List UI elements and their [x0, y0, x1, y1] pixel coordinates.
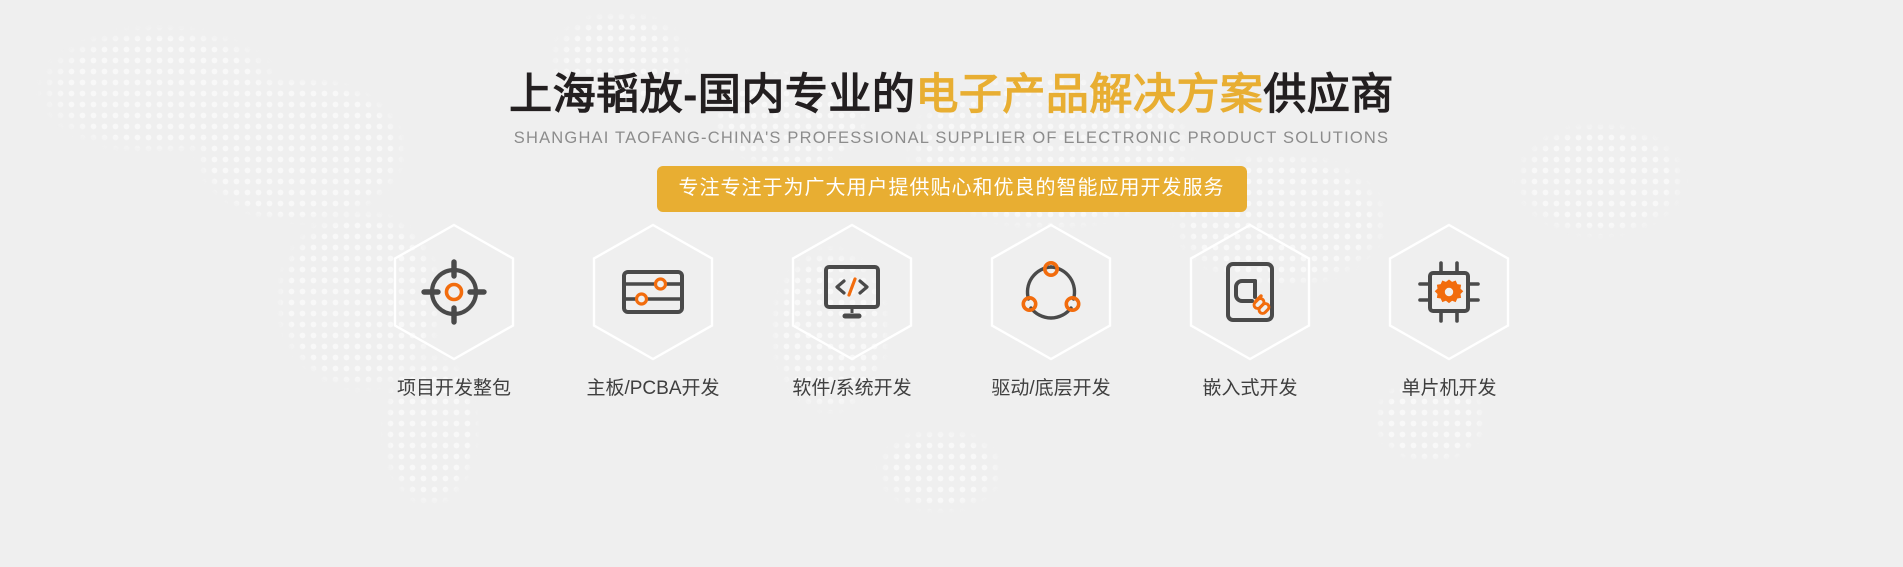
embedded-device-link-icon	[1217, 259, 1283, 325]
hexagon-frame	[589, 222, 717, 362]
headline-tail: 供应商	[1263, 71, 1394, 119]
hero-banner: 上海韬放-国内专业的电子产品解决方案供应商 SHANGHAI TAOFANG-C…	[0, 0, 1903, 567]
monitor-code-icon	[819, 259, 885, 325]
service-label: 嵌入式开发	[1202, 378, 1297, 401]
hexagon-frame	[390, 222, 518, 362]
hexagon-frame	[1186, 222, 1314, 362]
tagline-container: 专注专注于为广大用户提供贴心和优良的智能应用开发服务	[0, 166, 1903, 212]
hexagon-frame	[987, 222, 1115, 362]
service-label: 项目开发整包	[397, 378, 511, 401]
headline-accent: 电子产品解决方案	[915, 71, 1263, 119]
service-label: 驱动/底层开发	[991, 378, 1110, 401]
service-item-driver[interactable]: 驱动/底层开发	[970, 222, 1132, 401]
microchip-gear-icon	[1416, 259, 1482, 325]
target-crosshair-icon	[421, 259, 487, 325]
page-subtitle: SHANGHAI TAOFANG-CHINA'S PROFESSIONAL SU…	[0, 129, 1903, 149]
tagline-badge: 专注专注于为广大用户提供贴心和优良的智能应用开发服务	[657, 166, 1247, 212]
hexagon-frame	[1385, 222, 1513, 362]
service-item-mcu[interactable]: 单片机开发	[1368, 222, 1530, 401]
node-network-icon	[1018, 259, 1084, 325]
banner-heading-block: 上海韬放-国内专业的电子产品解决方案供应商 SHANGHAI TAOFANG-C…	[0, 0, 1903, 212]
service-item-project-package[interactable]: 项目开发整包	[373, 222, 535, 401]
service-label: 主板/PCBA开发	[586, 378, 719, 401]
service-item-embedded[interactable]: 嵌入式开发	[1169, 222, 1331, 401]
service-label: 软件/系统开发	[792, 378, 911, 401]
service-list: 项目开发整包 主板/PCBA开发	[0, 222, 1903, 401]
service-item-software[interactable]: 软件/系统开发	[771, 222, 933, 401]
circuit-board-icon	[620, 259, 686, 325]
headline-lead: 上海韬放-国内专业的	[509, 71, 915, 119]
page-title: 上海韬放-国内专业的电子产品解决方案供应商	[0, 72, 1903, 119]
service-label: 单片机开发	[1401, 378, 1496, 401]
service-item-pcba[interactable]: 主板/PCBA开发	[572, 222, 734, 401]
hexagon-frame	[788, 222, 916, 362]
